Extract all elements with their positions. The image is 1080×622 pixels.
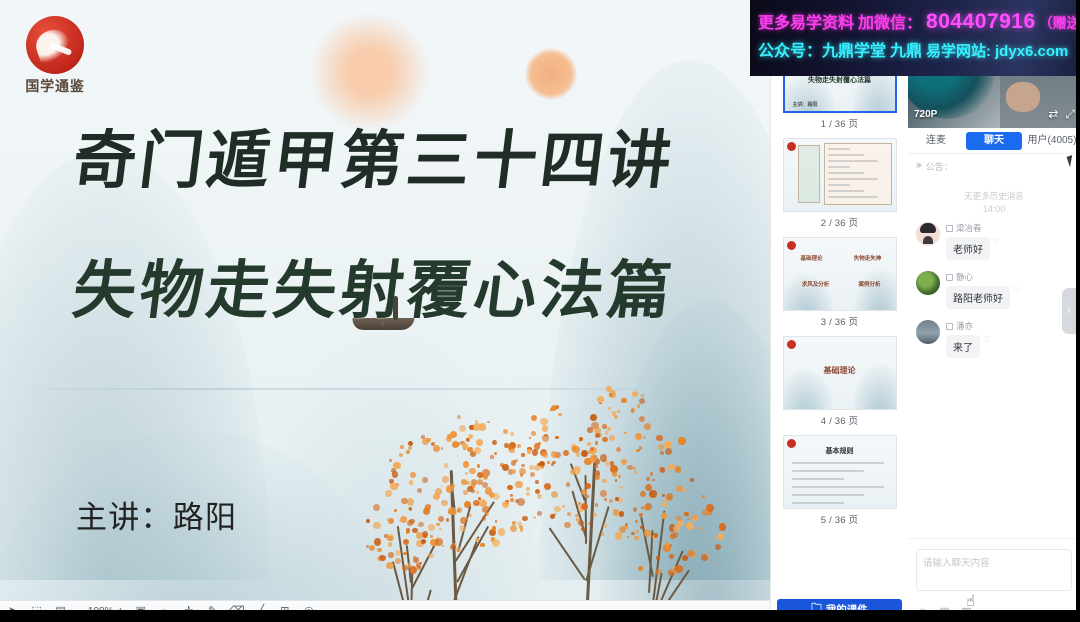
seal-icon <box>787 340 796 349</box>
chat-tab-0[interactable]: 连麦 <box>908 132 964 150</box>
chat-messages: 梁冶春老师好♡静心路阳老师好♡潘亦来了♡ <box>916 222 1072 358</box>
slide-thumbnail-caption: 5 / 36 页 <box>771 509 908 531</box>
brand-logo: 国学通鉴 <box>18 16 92 94</box>
slide-thumbnail-item[interactable]: 基本规则5 / 36 页 <box>771 432 908 531</box>
chat-tab-bar[interactable]: 连麦聊天用户(4005) <box>908 128 1080 154</box>
sun-decoration <box>525 48 577 100</box>
chat-message-author: 潘亦 <box>946 320 1072 332</box>
chat-message: 梁冶春老师好♡ <box>916 222 1072 260</box>
slide-presenter: 主讲：路阳 <box>76 492 237 537</box>
chat-author-name: 潘亦 <box>956 320 973 332</box>
slides-panel[interactable]: 34、失物走失射覆心法… ∧ 奇门遁甲第三十四讲失物走失射覆心法篇主讲：路阳1 … <box>770 0 908 622</box>
chat-author-name: 静心 <box>956 271 973 283</box>
letterbox-right <box>1076 0 1080 622</box>
watermark-wechat-number: 804407916 <box>926 10 1036 34</box>
watermark-site-label: 易学网站: <box>926 43 991 60</box>
slide-title-line2: 失物走失射覆心法篇 <box>68 240 680 331</box>
avatar <box>916 320 940 344</box>
letterbox-bottom <box>0 610 1080 622</box>
seal-icon <box>787 142 796 151</box>
watermark-gift-note: （赠送资料） <box>1039 17 1080 33</box>
slide-thumbnail-item[interactable]: 2 / 36 页 <box>771 135 908 234</box>
no-more-history-label: 无更多历史消息 <box>916 190 1072 202</box>
chat-message-author: 梁冶春 <box>946 222 1072 234</box>
like-icon[interactable]: ♡ <box>983 335 990 344</box>
slide-thumbnail-item[interactable]: 基础理论4 / 36 页 <box>771 333 908 432</box>
slide-thumbnail-caption: 2 / 36 页 <box>771 212 908 234</box>
watermark-account-label: 公众号：九鼎学堂 九鼎 <box>758 43 922 61</box>
like-icon[interactable]: ♡ <box>1013 286 1020 295</box>
user-badge-icon <box>946 323 953 330</box>
slide-title-line1: 奇门遁甲第三十四讲 <box>68 110 680 201</box>
watermark-line-2: 公众号：九鼎学堂 九鼎 易学网站: jdyx6.com <box>758 43 1074 61</box>
mouse-cursor-hand: ☝ <box>966 592 975 610</box>
slide-thumbnail-2[interactable] <box>783 138 897 212</box>
slide-thumbnail-item[interactable]: 基础理论失物走失神求风及分析案例分析3 / 36 页 <box>771 234 908 333</box>
chat-message-list[interactable]: 无更多历史消息 14:00 梁冶春老师好♡静心路阳老师好♡潘亦来了♡ <box>908 186 1080 538</box>
announcement-bar[interactable]: 🕪 公告： <box>908 156 1080 186</box>
chat-message: 潘亦来了♡ <box>916 320 1072 358</box>
chat-message-author: 静心 <box>946 271 1072 283</box>
panel-collapse-handle[interactable]: ‹ <box>1062 288 1076 334</box>
fullscreen-icon[interactable]: ⤢ <box>1065 107 1075 122</box>
slide-thumbnail-5[interactable]: 基本规则 <box>783 435 897 509</box>
seal-icon <box>787 241 796 250</box>
chat-tab-label: 用户(4005) <box>1028 135 1077 146</box>
slide-thumbnail-caption: 4 / 36 页 <box>771 410 908 432</box>
watermark-line-1: 更多易学资料 加微信： 804407916 （赠送资料） <box>758 10 1074 34</box>
chat-message: 静心路阳老师好♡ <box>916 271 1072 309</box>
chat-author-name: 梁冶春 <box>956 222 982 234</box>
chat-timestamp: 14:00 <box>916 204 1072 214</box>
megaphone-icon: 🕪 <box>916 160 922 171</box>
chat-message-text: 老师好 <box>946 237 990 260</box>
user-badge-icon <box>946 274 953 281</box>
video-quality-badge[interactable]: 720P <box>914 109 937 120</box>
slide-thumbnail-caption: 1 / 36 页 <box>771 113 908 135</box>
avatar <box>916 271 940 295</box>
avatar <box>916 222 940 246</box>
slide-thumbnail-3[interactable]: 基础理论失物走失神求风及分析案例分析 <box>783 237 897 311</box>
slide-thumbnail-4[interactable]: 基础理论 <box>783 336 897 410</box>
slide-thumbnail-caption: 3 / 36 页 <box>771 311 908 333</box>
chat-column: 720P ⇄ ⤢ 连麦聊天用户(4005) 🕪 公告： 无更多历史消息 14:0… <box>908 0 1080 622</box>
chat-tab-label: 聊天 <box>984 135 1004 146</box>
chat-message-text: 来了 <box>946 335 980 358</box>
switch-view-icon[interactable]: ⇄ <box>1048 107 1058 122</box>
live-class-app: 国学通鉴 奇门遁甲第三十四讲 失物走失射覆心法篇 主讲：路阳 ➤ ⬚ ▤ − 1… <box>0 0 1080 622</box>
promo-watermark-banner: 更多易学资料 加微信： 804407916 （赠送资料） 公众号：九鼎学堂 九鼎… <box>750 0 1080 76</box>
chat-tab-label: 连麦 <box>926 135 946 146</box>
video-controls[interactable]: ⇄ ⤢ <box>1048 107 1075 122</box>
brand-logo-text: 国学通鉴 <box>18 76 92 96</box>
watermark-site-url: jdyx6.com <box>995 43 1068 60</box>
presenter-hand <box>1006 82 1040 112</box>
announcement-label: 公告： <box>926 160 953 173</box>
slides-thumbnail-list[interactable]: 奇门遁甲第三十四讲失物走失射覆心法篇主讲：路阳1 / 36 页2 / 36 页基… <box>771 34 908 596</box>
blossom-tree-decoration <box>350 330 750 600</box>
crane-emblem-icon <box>26 16 84 74</box>
chat-tab-1[interactable]: 聊天 <box>966 132 1022 150</box>
watermark-wechat-label: 更多易学资料 加微信： <box>758 15 922 33</box>
slide-stage[interactable]: 国学通鉴 奇门遁甲第三十四讲 失物走失射覆心法篇 主讲：路阳 <box>0 0 770 600</box>
chat-tab-2[interactable]: 用户(4005) <box>1024 132 1080 150</box>
like-icon[interactable]: ♡ <box>993 237 1000 246</box>
chat-input[interactable]: 请输入聊天内容 <box>916 549 1072 591</box>
chat-message-text: 路阳老师好 <box>946 286 1010 309</box>
user-badge-icon <box>946 225 953 232</box>
